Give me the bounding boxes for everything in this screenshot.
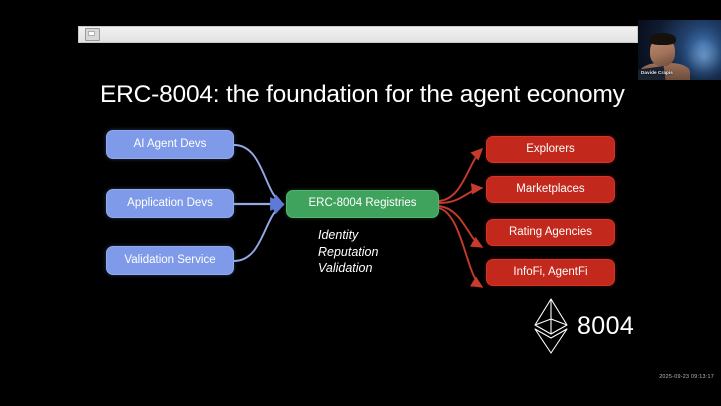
participant-name-label: Davide Crapis	[641, 70, 673, 75]
node-infofi-agentfi[interactable]: InfoFi, AgentFi	[486, 259, 615, 286]
node-label: AI Agent Devs	[134, 139, 207, 151]
hub-sub-item-reputation: Reputation	[318, 244, 378, 261]
arrow-marketplaces	[439, 188, 482, 203]
hub-sub-item-validation: Validation	[318, 260, 378, 277]
arrow-infofi-agentfi	[439, 208, 482, 287]
arrow-validation-service	[234, 205, 283, 261]
logo-number: 8004	[577, 312, 634, 341]
presentation-slide: ERC-8004: the foundation for the agent e…	[78, 43, 638, 406]
node-label: Rating Agencies	[509, 227, 592, 239]
page-title: ERC-8004: the foundation for the agent e…	[100, 81, 620, 109]
ethereum-diamond-icon	[533, 298, 569, 354]
screen-share-icon[interactable]	[85, 28, 100, 41]
node-validation-service[interactable]: Validation Service	[106, 246, 234, 275]
hub-sub-item-identity: Identity	[318, 227, 378, 244]
node-erc8004-registries[interactable]: ERC-8004 Registries	[286, 190, 439, 218]
webcam-person-hair	[649, 33, 676, 45]
arrow-explorers	[439, 149, 482, 201]
node-application-devs[interactable]: Application Devs	[106, 189, 234, 218]
webcam-panel[interactable]: Davide Crapis	[638, 20, 721, 80]
node-label: ERC-8004 Registries	[308, 198, 416, 210]
ethereum-logo-block: 8004	[533, 298, 634, 354]
node-label: Explorers	[526, 144, 575, 156]
recording-timestamp: 2025-09-23 09:13:17	[659, 374, 714, 380]
screen-share-toolbar[interactable]	[78, 26, 638, 43]
input-arrow-group	[234, 145, 283, 261]
node-label: Application Devs	[127, 198, 213, 210]
hub-sub-list: Identity Reputation Validation	[318, 227, 378, 277]
node-label: InfoFi, AgentFi	[513, 267, 587, 279]
node-explorers[interactable]: Explorers	[486, 136, 615, 163]
node-marketplaces[interactable]: Marketplaces	[486, 176, 615, 203]
node-label: Marketplaces	[516, 184, 584, 196]
node-label: Validation Service	[124, 255, 215, 267]
screen-share-stage: ERC-8004: the foundation for the agent e…	[0, 0, 721, 406]
output-arrow-group	[439, 149, 482, 287]
node-rating-agencies[interactable]: Rating Agencies	[486, 219, 615, 246]
node-ai-agent-devs[interactable]: AI Agent Devs	[106, 130, 234, 159]
arrow-ai-agent-devs	[234, 145, 283, 204]
arrow-rating-agencies	[439, 206, 482, 247]
